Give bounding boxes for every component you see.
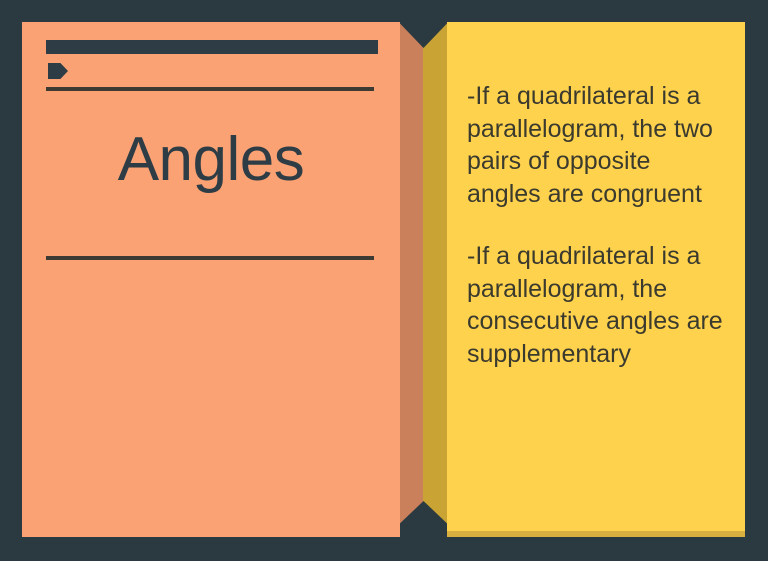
- right-page-bottom-edge: [447, 531, 745, 537]
- divider-rule-top: [46, 87, 374, 91]
- spine-shadow-orange: [400, 22, 423, 537]
- flashcard-canvas: Angles -If a quadrilateral is a parallel…: [0, 0, 768, 561]
- notes-list: -If a quadrilateral is a parallelogram, …: [467, 80, 729, 370]
- note-item: -If a quadrilateral is a parallelogram, …: [467, 80, 729, 210]
- play-triangle-marker-icon: [48, 63, 68, 79]
- title-banner-bar: [46, 40, 378, 54]
- left-page[interactable]: Angles: [22, 22, 400, 537]
- divider-rule-bottom: [46, 256, 374, 260]
- right-page[interactable]: -If a quadrilateral is a parallelogram, …: [447, 22, 745, 537]
- open-book-graphic: Angles -If a quadrilateral is a parallel…: [22, 22, 745, 537]
- note-item: -If a quadrilateral is a parallelogram, …: [467, 240, 729, 370]
- page-title: Angles: [22, 127, 400, 192]
- spine-shadow-gold: [423, 22, 447, 537]
